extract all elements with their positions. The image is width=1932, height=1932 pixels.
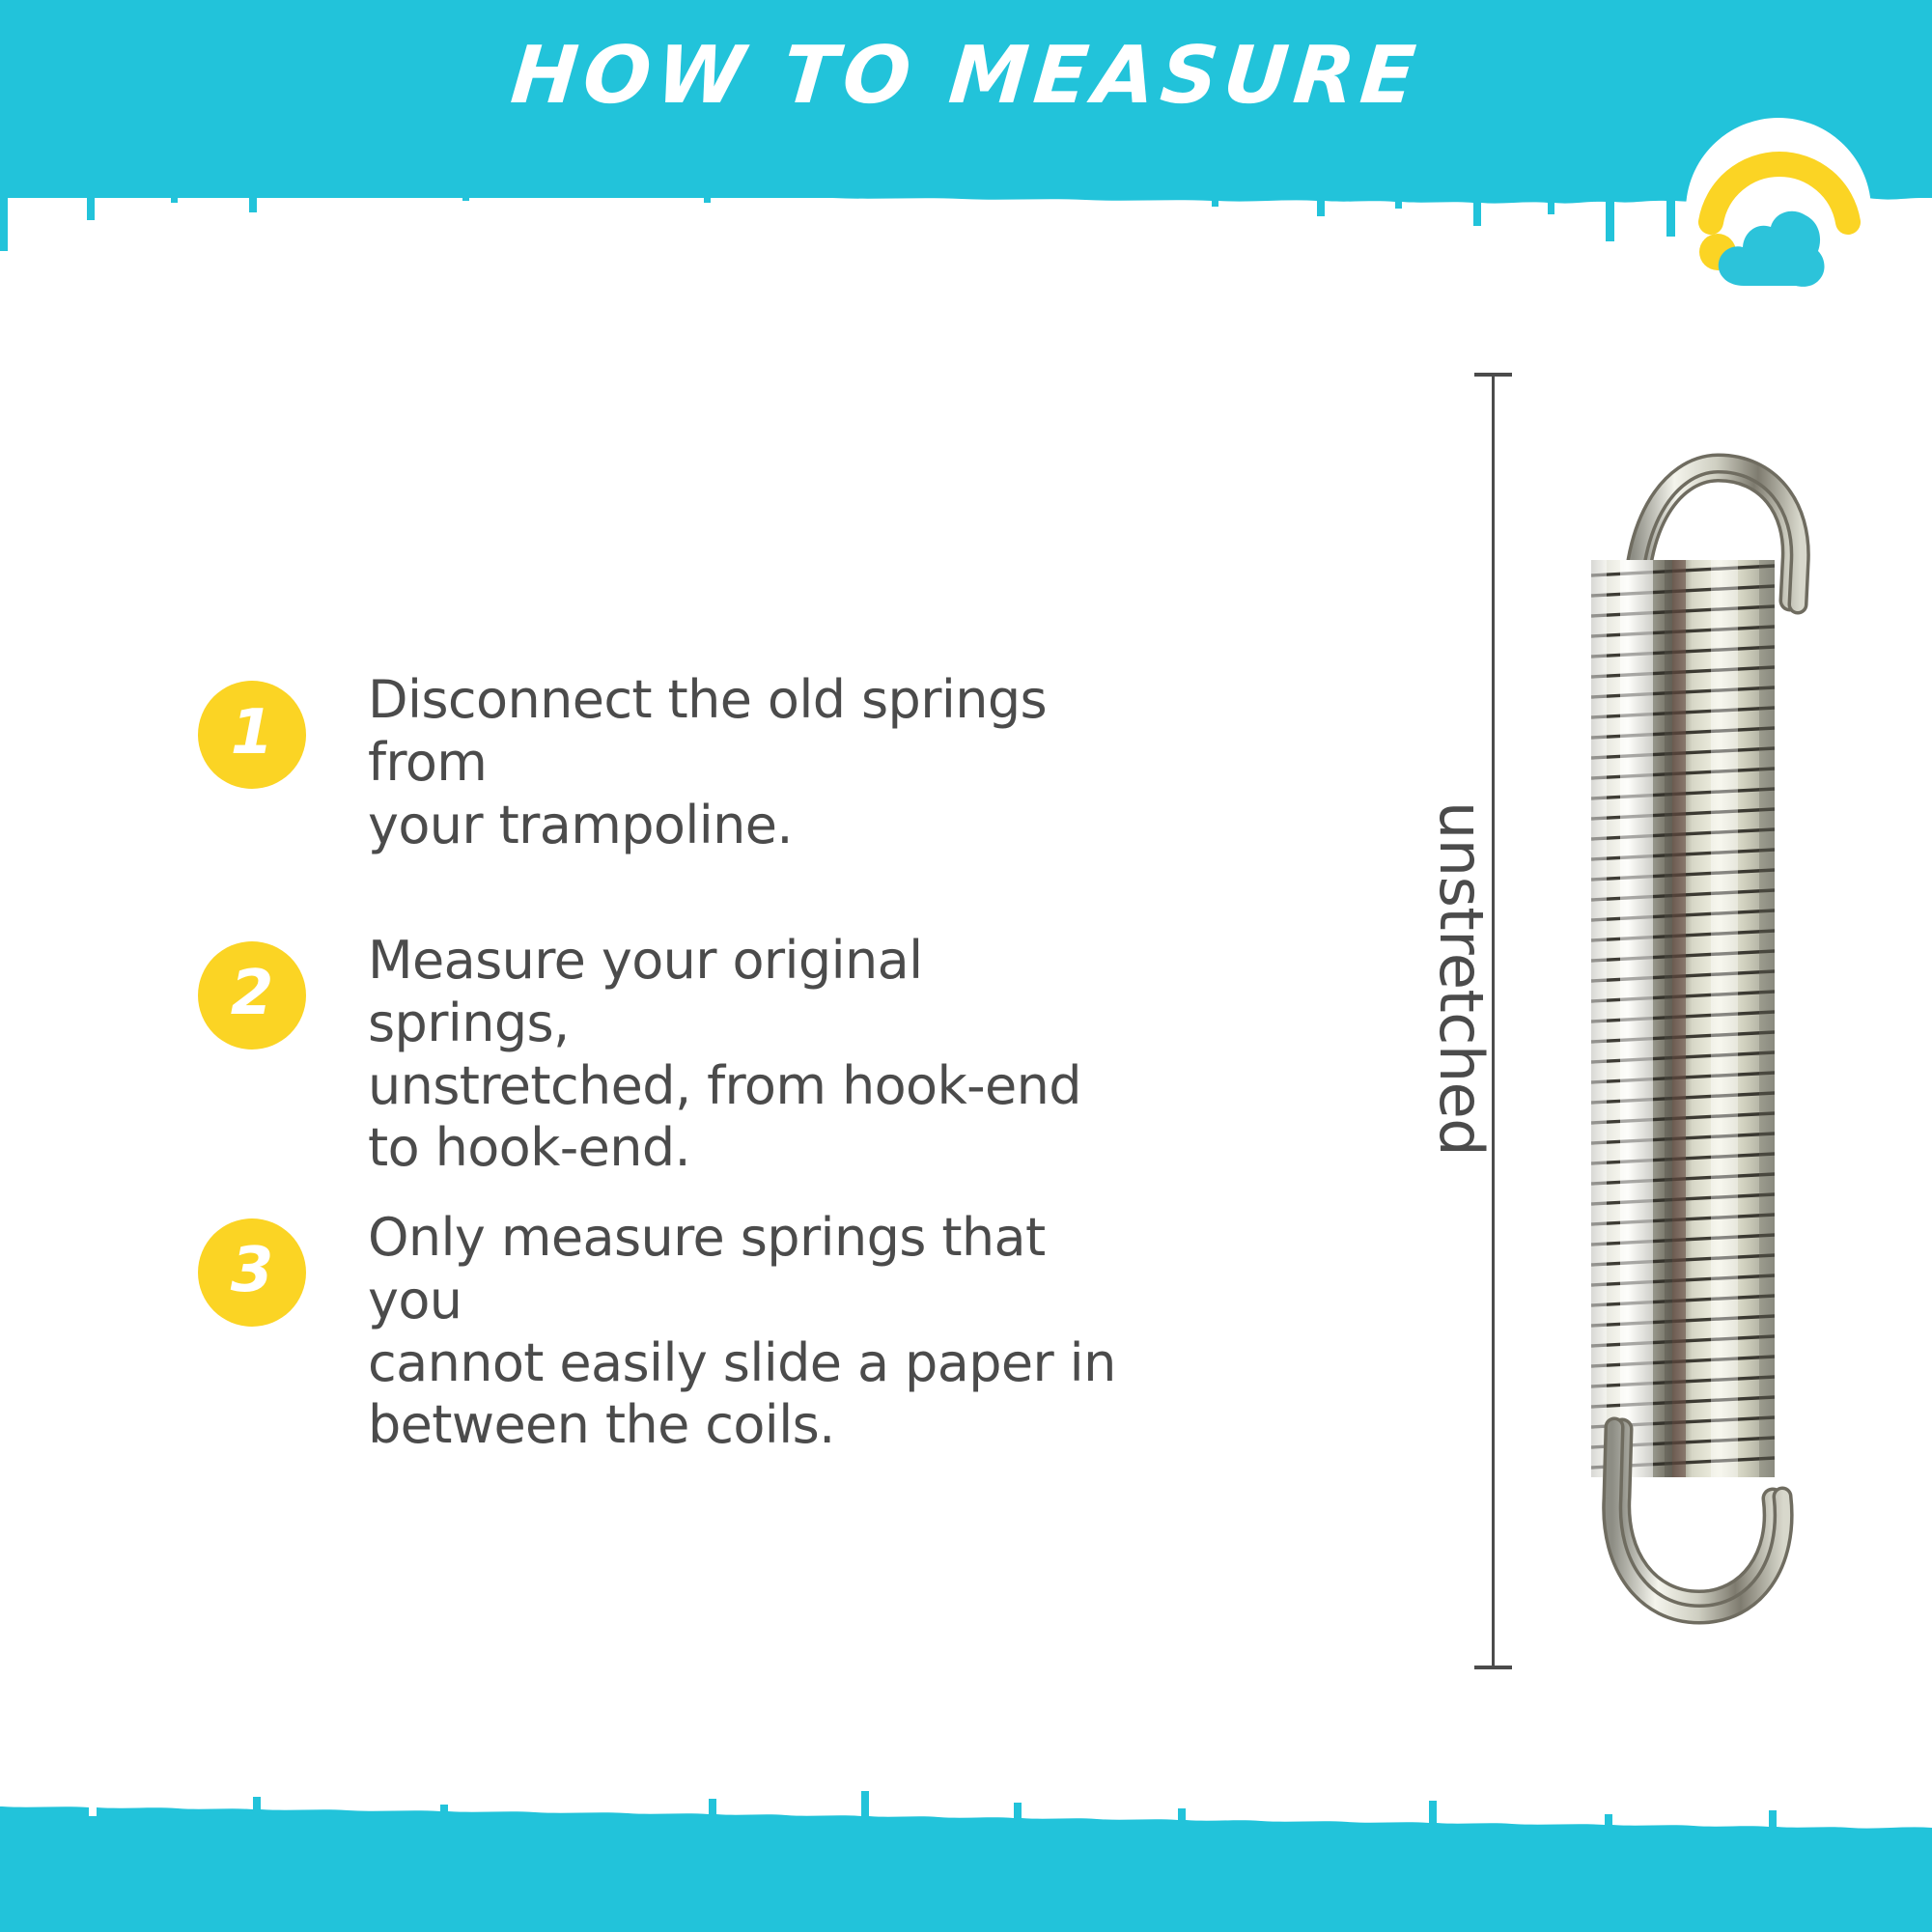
step-number-3: 3: [198, 1218, 306, 1327]
measurement-label: unstretched: [1429, 801, 1497, 1207]
step-number-2: 2: [198, 941, 306, 1050]
measurement-cap-bottom: [1474, 1666, 1512, 1669]
step-text-2: Measure your original springs, unstretch…: [368, 930, 1121, 1180]
trampoline-spring-image: [1564, 386, 1873, 1661]
step-number-1: 1: [198, 681, 306, 789]
step-badge-2: 2: [198, 941, 306, 1050]
step-badge-1: 1: [198, 681, 306, 789]
step-badge-3: 3: [198, 1218, 306, 1327]
step-text-1: Disconnect the old springs from your tra…: [368, 669, 1121, 856]
step-text-3: Only measure springs that you cannot eas…: [368, 1207, 1121, 1457]
header-brush-edge: [0, 145, 1932, 251]
footer-band: [0, 1842, 1932, 1932]
measurement-cap-top: [1474, 373, 1512, 377]
how-to-measure-infographic: HOW TO MEASURE 1 Disconnect the old spri…: [0, 0, 1932, 1932]
rainbow-cloud-logo: [1682, 114, 1875, 307]
spring-coil-body: [1591, 560, 1775, 1477]
page-title: HOW TO MEASURE: [0, 37, 1932, 116]
